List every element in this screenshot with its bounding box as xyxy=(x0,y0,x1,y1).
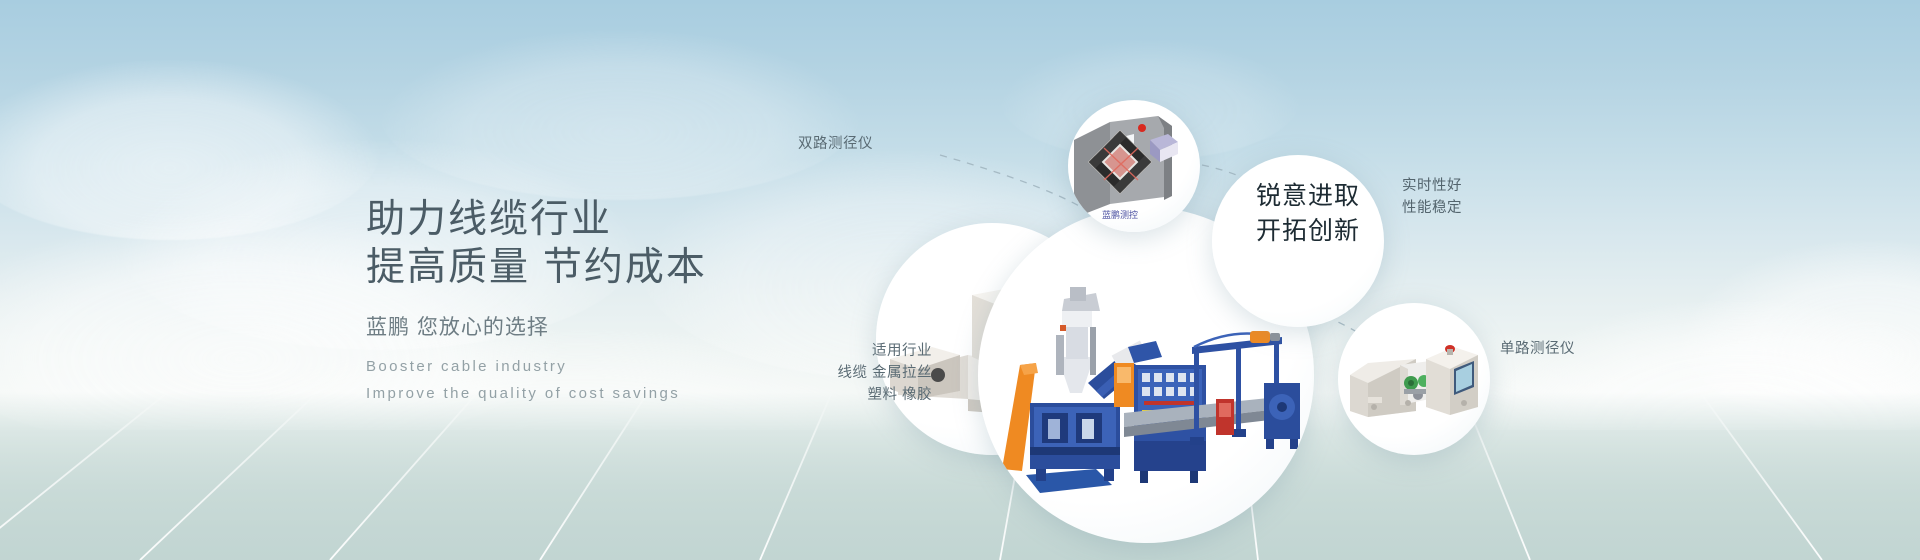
bubble-dual-gauge: 蓝鹏测控 xyxy=(1068,100,1200,232)
callout-performance-line-1: 实时性好 xyxy=(1402,175,1462,197)
slogan-line-1: 锐意进取 xyxy=(1248,179,1368,214)
hero-banner: 助力线缆行业 提高质量 节约成本 蓝鹏 您放心的选择 Booster cable… xyxy=(0,0,1920,560)
subtitle-chinese: 蓝鹏 您放心的选择 xyxy=(366,313,926,343)
slogan-line-2: 开拓创新 xyxy=(1248,214,1368,249)
single-channel-gauge-icon xyxy=(1338,303,1490,455)
slogan-block: 锐意进取 开拓创新 xyxy=(1248,179,1368,249)
callout-performance-line-2: 性能稳定 xyxy=(1402,197,1462,219)
gauge-brand-label: 蓝鹏测控 xyxy=(1102,209,1138,220)
callout-industry-line-2: 塑料 橡胶 xyxy=(732,384,932,406)
callout-performance: 实时性好 性能稳定 xyxy=(1402,175,1462,219)
product-composition: 蓝鹏测控 锐意进取 开拓创新 xyxy=(880,55,1920,525)
callout-single-gauge: 单路测径仪 xyxy=(1500,338,1575,360)
callout-dual-gauge: 双路测径仪 xyxy=(798,133,873,155)
headline-line-1: 助力线缆行业 xyxy=(366,196,926,244)
headline-line-2: 提高质量 节约成本 xyxy=(366,244,926,292)
callout-industry-line-1: 线缆 金属拉丝 xyxy=(732,362,932,384)
callout-industries: 适用行业 线缆 金属拉丝 塑料 橡胶 xyxy=(732,340,932,406)
bubble-single-gauge xyxy=(1338,303,1490,455)
callout-industry-title: 适用行业 xyxy=(732,340,932,362)
dual-channel-gauge-icon: 蓝鹏测控 xyxy=(1068,100,1200,232)
